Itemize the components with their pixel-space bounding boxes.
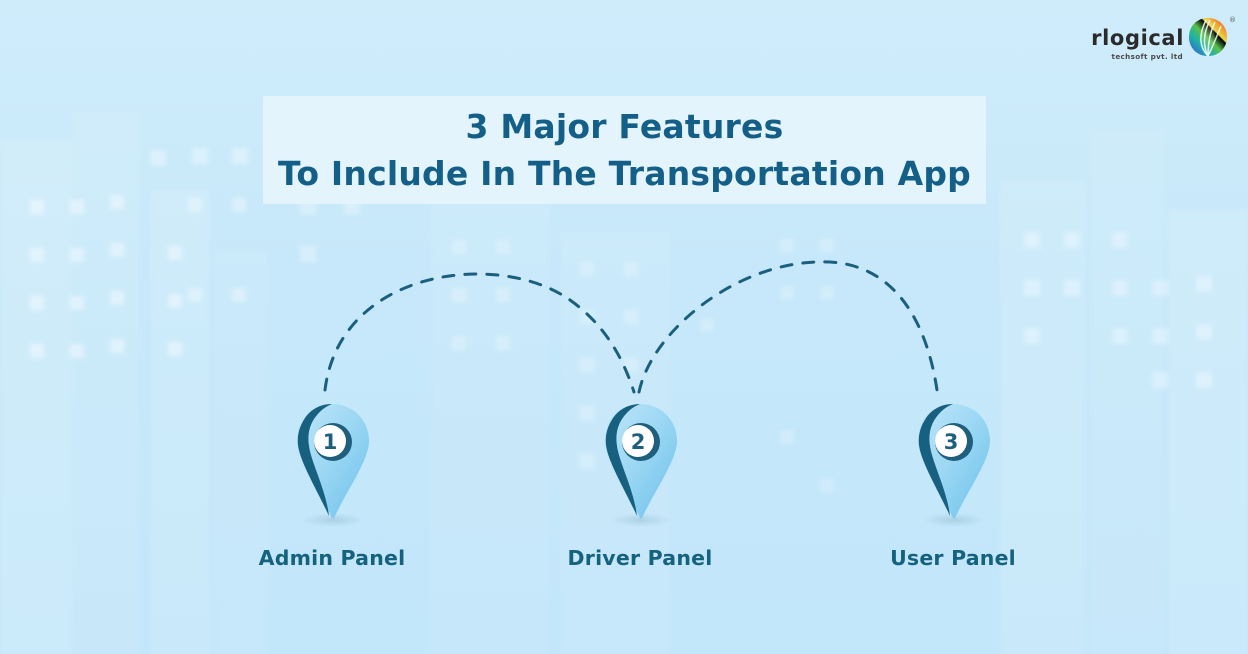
registered-trademark-icon: ® [1229, 16, 1236, 24]
arc-step1-to-step2 [325, 274, 634, 392]
title-line-2: To Include In The Transportation App [278, 157, 971, 190]
step-label-user-panel: User Panel [890, 546, 1016, 570]
title-line-1: 3 Major Features [466, 110, 784, 143]
arc-step2-to-step3 [639, 262, 937, 392]
rainbow-leaf-logo-icon: ® [1186, 16, 1230, 60]
step-item-driver-panel[interactable]: 2 Driver Panel [530, 398, 750, 570]
pin-number-2: 2 [631, 430, 646, 454]
logo-tagline: techsoft pvt. ltd [1112, 52, 1183, 61]
logo-text-block: rlogical techsoft pvt. ltd [1091, 16, 1184, 61]
step-item-admin-panel[interactable]: 1 Admin Panel [222, 398, 442, 570]
logo-wordmark: rlogical [1091, 28, 1184, 49]
map-pin-1: 1 [277, 398, 387, 528]
pin-number-3: 3 [944, 430, 959, 454]
step-label-driver-panel: Driver Panel [568, 546, 713, 570]
rlogical-logo[interactable]: rlogical techsoft pvt. ltd [1091, 16, 1230, 61]
title-banner: 3 Major Features To Include In The Trans… [263, 96, 986, 204]
map-pin-2: 2 [585, 398, 695, 528]
step-label-admin-panel: Admin Panel [259, 546, 406, 570]
infographic-canvas: rlogical techsoft pvt. ltd [0, 0, 1248, 654]
map-pin-3: 3 [898, 398, 1008, 528]
step-item-user-panel[interactable]: 3 User Panel [843, 398, 1063, 570]
pin-number-1: 1 [323, 430, 338, 454]
